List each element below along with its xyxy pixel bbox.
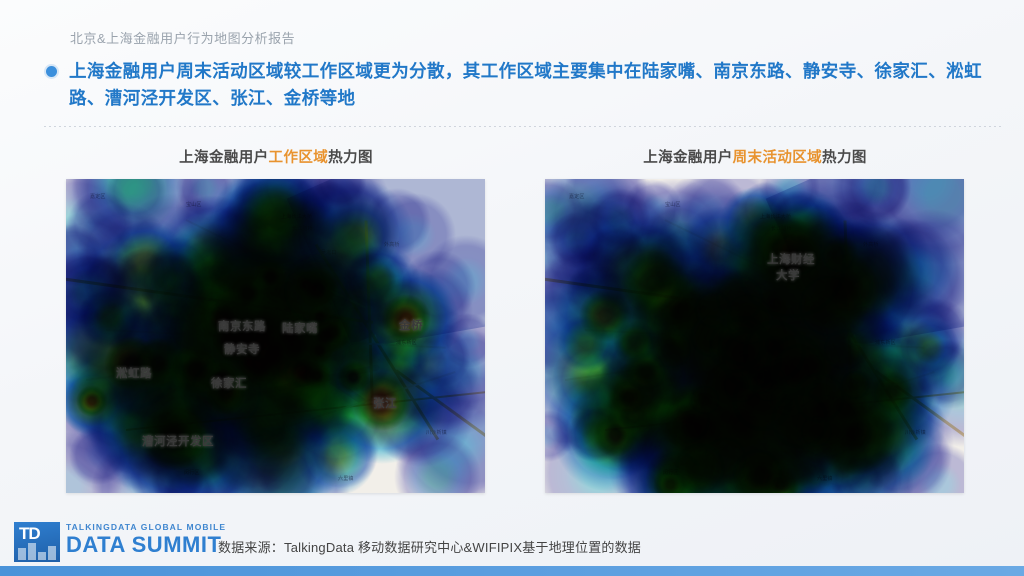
td-logo-bars-icon xyxy=(18,542,56,560)
panel-title-highlight-right: 周末活动区域 xyxy=(733,150,822,166)
talkingdata-logo: TD TALKINGDATA GLOBAL MOBILE DATA SUMMIT xyxy=(14,520,214,564)
panel-title-prefix-right: 上海金融用户 xyxy=(643,150,732,166)
heat-hotspot-west xyxy=(76,385,108,417)
slide-root: 北京&上海金融用户行为地图分析报告 上海金融用户周末活动区域较工作区域更为分散，… xyxy=(0,0,1024,576)
panel-title-highlight-left: 工作区域 xyxy=(269,150,329,166)
panel-title-work: 上海金融用户工作区域热力图 xyxy=(66,146,486,167)
report-kicker: 北京&上海金融用户行为地图分析报告 xyxy=(70,28,295,47)
panel-title-suffix-left: 热力图 xyxy=(328,150,373,166)
bottom-accent-bar xyxy=(0,566,1024,576)
map-area-label: 张江 xyxy=(373,395,397,411)
td-logo-mark-icon: TD xyxy=(14,522,60,562)
heat-hotspot-north xyxy=(296,271,336,311)
map-area-label: 静安寺 xyxy=(224,341,260,357)
panel-title-suffix-right: 热力图 xyxy=(822,150,867,166)
logo-tagline: TALKINGDATA GLOBAL MOBILE xyxy=(66,522,226,532)
heat-layer xyxy=(66,179,485,493)
page-title: 上海金融用户周末活动区域较工作区域更为分散，其工作区域主要集中在陆家嘴、南京东路… xyxy=(69,58,984,112)
map-area-label: 漕河泾开发区 xyxy=(142,433,214,449)
map-area-label: 南京东路 xyxy=(218,318,266,334)
logo-wordmark: DATA SUMMIT xyxy=(66,532,221,558)
map-area-label: 淞虹路 xyxy=(116,365,152,381)
map-weekend-area[interactable]: 嘉定区上海长江大桥外高桥长江隧桥宝山区吴淞口浦东新区闵行区川沙新镇六里镇上海财经… xyxy=(545,179,964,493)
slide-footer: TD TALKINGDATA GLOBAL MOBILE DATA SUMMIT… xyxy=(0,514,1024,576)
heat-hotspot-east xyxy=(819,383,871,435)
headline-row: 上海金融用户周末活动区域较工作区域更为分散，其工作区域主要集中在陆家嘴、南京东路… xyxy=(46,58,984,112)
panel-title-weekend: 上海金融用户周末活动区域热力图 xyxy=(545,146,965,167)
panel-weekend-area: 上海金融用户周末活动区域热力图 嘉定区上海长江大桥外高桥长江隧桥宝山区吴淞口浦东… xyxy=(545,146,965,493)
bullet-dot-icon xyxy=(46,66,57,77)
data-source-note: 数据来源：TalkingData 移动数据研究中心&WIFIPIX基于地理位置的… xyxy=(218,537,641,556)
map-area-label: 大学 xyxy=(776,267,800,283)
heat-core-speckle xyxy=(225,271,271,317)
panel-work-area: 上海金融用户工作区域热力图 嘉定区上海长江大桥外高桥长江隧桥宝山区吴淞口浦东新区… xyxy=(66,146,486,493)
map-area-label: 金桥 xyxy=(399,317,423,333)
td-logo-letters: TD xyxy=(19,524,40,544)
map-area-label: 陆家嘴 xyxy=(282,320,318,336)
map-work-area[interactable]: 嘉定区上海长江大桥外高桥长江隧桥宝山区吴淞口浦东新区闵行区川沙新镇六里镇南京东路… xyxy=(66,179,485,493)
heat-layer xyxy=(545,179,964,493)
map-area-label: 上海财经 xyxy=(767,251,815,267)
panel-title-prefix-left: 上海金融用户 xyxy=(179,150,268,166)
heat-scatter-point xyxy=(623,348,670,395)
map-area-label: 徐家汇 xyxy=(211,375,247,391)
heat-hotspot-south xyxy=(665,399,725,459)
header-divider xyxy=(44,126,1002,127)
